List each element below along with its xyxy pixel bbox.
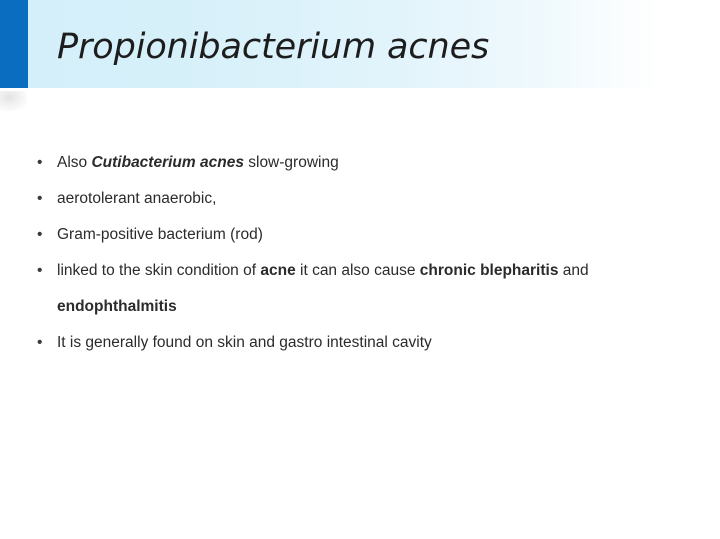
text-segment: Also	[57, 154, 91, 171]
text-segment-emphasis: chronic blepharitis	[420, 262, 559, 279]
bullet-marker-icon: •	[37, 332, 42, 354]
text-segment: aerotolerant anaerobic,	[57, 190, 216, 207]
text-segment: linked to the skin condition of	[57, 262, 260, 279]
list-item: • It is generally found on skin and gast…	[34, 332, 696, 354]
text-segment: Gram-positive bacterium (rod)	[57, 226, 263, 243]
page-title: Propionibacterium acnes	[57, 25, 489, 69]
list-item: • linked to the skin condition of acne i…	[34, 260, 696, 318]
text-segment: slow-growing	[244, 154, 339, 171]
list-item-text: linked to the skin condition of acne it …	[57, 260, 696, 282]
bullet-list: • Also Cutibacterium acnes slow-growing …	[34, 152, 696, 354]
text-segment-emphasis: Cutibacterium acnes	[91, 154, 243, 171]
accent-bar-shadow	[0, 91, 27, 111]
bullet-marker-icon: •	[37, 260, 42, 282]
list-item-text: aerotolerant anaerobic,	[57, 188, 696, 210]
bullet-marker-icon: •	[37, 188, 42, 210]
list-item-text-wrapped: endophthalmitis	[57, 296, 696, 318]
title-accent-bar	[0, 0, 28, 88]
list-item-text: Gram-positive bacterium (rod)	[57, 224, 696, 246]
text-segment: it can also cause	[296, 262, 420, 279]
bullet-marker-icon: •	[37, 152, 42, 174]
list-item: • Also Cutibacterium acnes slow-growing	[34, 152, 696, 174]
title-banner: Propionibacterium acnes	[0, 0, 720, 88]
text-segment-emphasis: acne	[260, 262, 295, 279]
list-item: • Gram-positive bacterium (rod)	[34, 224, 696, 246]
bullet-marker-icon: •	[37, 224, 42, 246]
list-item-text: Also Cutibacterium acnes slow-growing	[57, 152, 696, 174]
text-segment: and	[558, 262, 588, 279]
slide-canvas: Propionibacterium acnes • Also Cutibacte…	[0, 0, 720, 539]
list-item: • aerotolerant anaerobic,	[34, 188, 696, 210]
text-segment: It is generally found on skin and gastro…	[57, 334, 432, 351]
list-item-text: It is generally found on skin and gastro…	[57, 332, 696, 354]
